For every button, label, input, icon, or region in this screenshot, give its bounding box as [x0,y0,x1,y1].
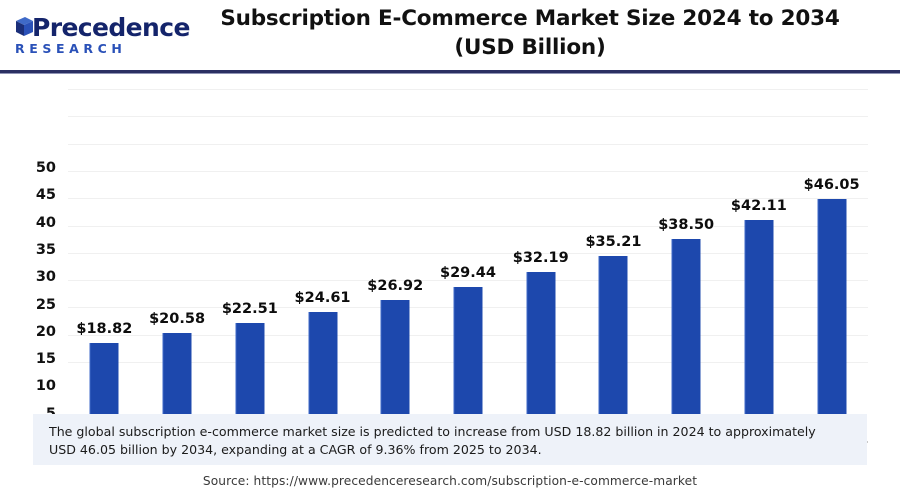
y-axis-tick: 30 [14,269,56,285]
source-link[interactable]: Source: https://www.precedenceresearch.c… [0,474,900,488]
y-axis: 50454035302520151050 [12,169,56,442]
bar-group[interactable]: $24.61 [286,178,359,442]
note-line-1: The global subscription e-commerce marke… [49,423,853,441]
bar-value-label: $22.51 [222,301,278,317]
bar-series: $18.82$20.58$22.51$24.61$26.92$29.44$32.… [68,178,868,442]
summary-note: The global subscription e-commerce marke… [33,414,867,465]
bar-value-label: $35.21 [585,234,641,250]
y-axis-tick: 15 [14,351,56,367]
bar-group[interactable]: $32.19 [504,178,577,442]
bar-value-label: $42.11 [731,198,787,214]
bar-value-label: $38.50 [658,217,714,233]
gridline [68,89,868,90]
chart-page: Precedence RESEARCH Subscription E-Comme… [0,0,900,503]
y-axis-tick: 10 [14,378,56,394]
page-title: Subscription E-Commerce Market Size 2024… [180,4,880,62]
logo-subtitle: RESEARCH [15,42,126,56]
bar-group[interactable]: $22.51 [213,178,286,442]
bar-value-label: $18.82 [76,321,132,337]
bar-group[interactable]: $46.05 [795,178,868,442]
y-axis-tick: 45 [14,187,56,203]
bar-value-label: $32.19 [513,250,569,266]
bar-value-label: $20.58 [149,311,205,327]
gridline [68,116,868,117]
bar-group[interactable]: $20.58 [141,178,214,442]
y-axis-tick: 20 [14,324,56,340]
bar-value-label: $46.05 [804,177,860,193]
page-header: Precedence RESEARCH Subscription E-Comme… [0,0,900,75]
logo-wordmark: Precedence [32,14,190,41]
y-axis-tick: 40 [14,215,56,231]
gridline [68,171,868,172]
title-line-1: Subscription E-Commerce Market Size 2024… [220,6,839,31]
header-divider-thin [0,73,900,74]
bar-group[interactable]: $42.11 [723,178,796,442]
bar-group[interactable]: $29.44 [432,178,505,442]
bar-value-label: $24.61 [295,290,351,306]
y-axis-tick: 35 [14,242,56,258]
bar-group[interactable]: $26.92 [359,178,432,442]
bar-value-label: $29.44 [440,265,496,281]
bar[interactable] [817,199,846,442]
precedence-research-logo: Precedence RESEARCH [10,14,160,62]
bar-group[interactable]: $35.21 [577,178,650,442]
note-line-2: USD 46.05 billion by 2034, expanding at … [49,441,853,459]
y-axis-tick: 25 [14,297,56,313]
bar-group[interactable]: $18.82 [68,178,141,442]
bar-value-label: $26.92 [367,278,423,294]
title-line-2: (USD Billion) [454,35,605,60]
bar-chart: 50454035302520151050 $18.82$20.58$22.51$… [0,80,900,405]
bar-group[interactable]: $38.50 [650,178,723,442]
bar[interactable] [744,220,773,442]
y-axis-tick: 50 [14,160,56,176]
gridline [68,144,868,145]
bar[interactable] [672,239,701,442]
